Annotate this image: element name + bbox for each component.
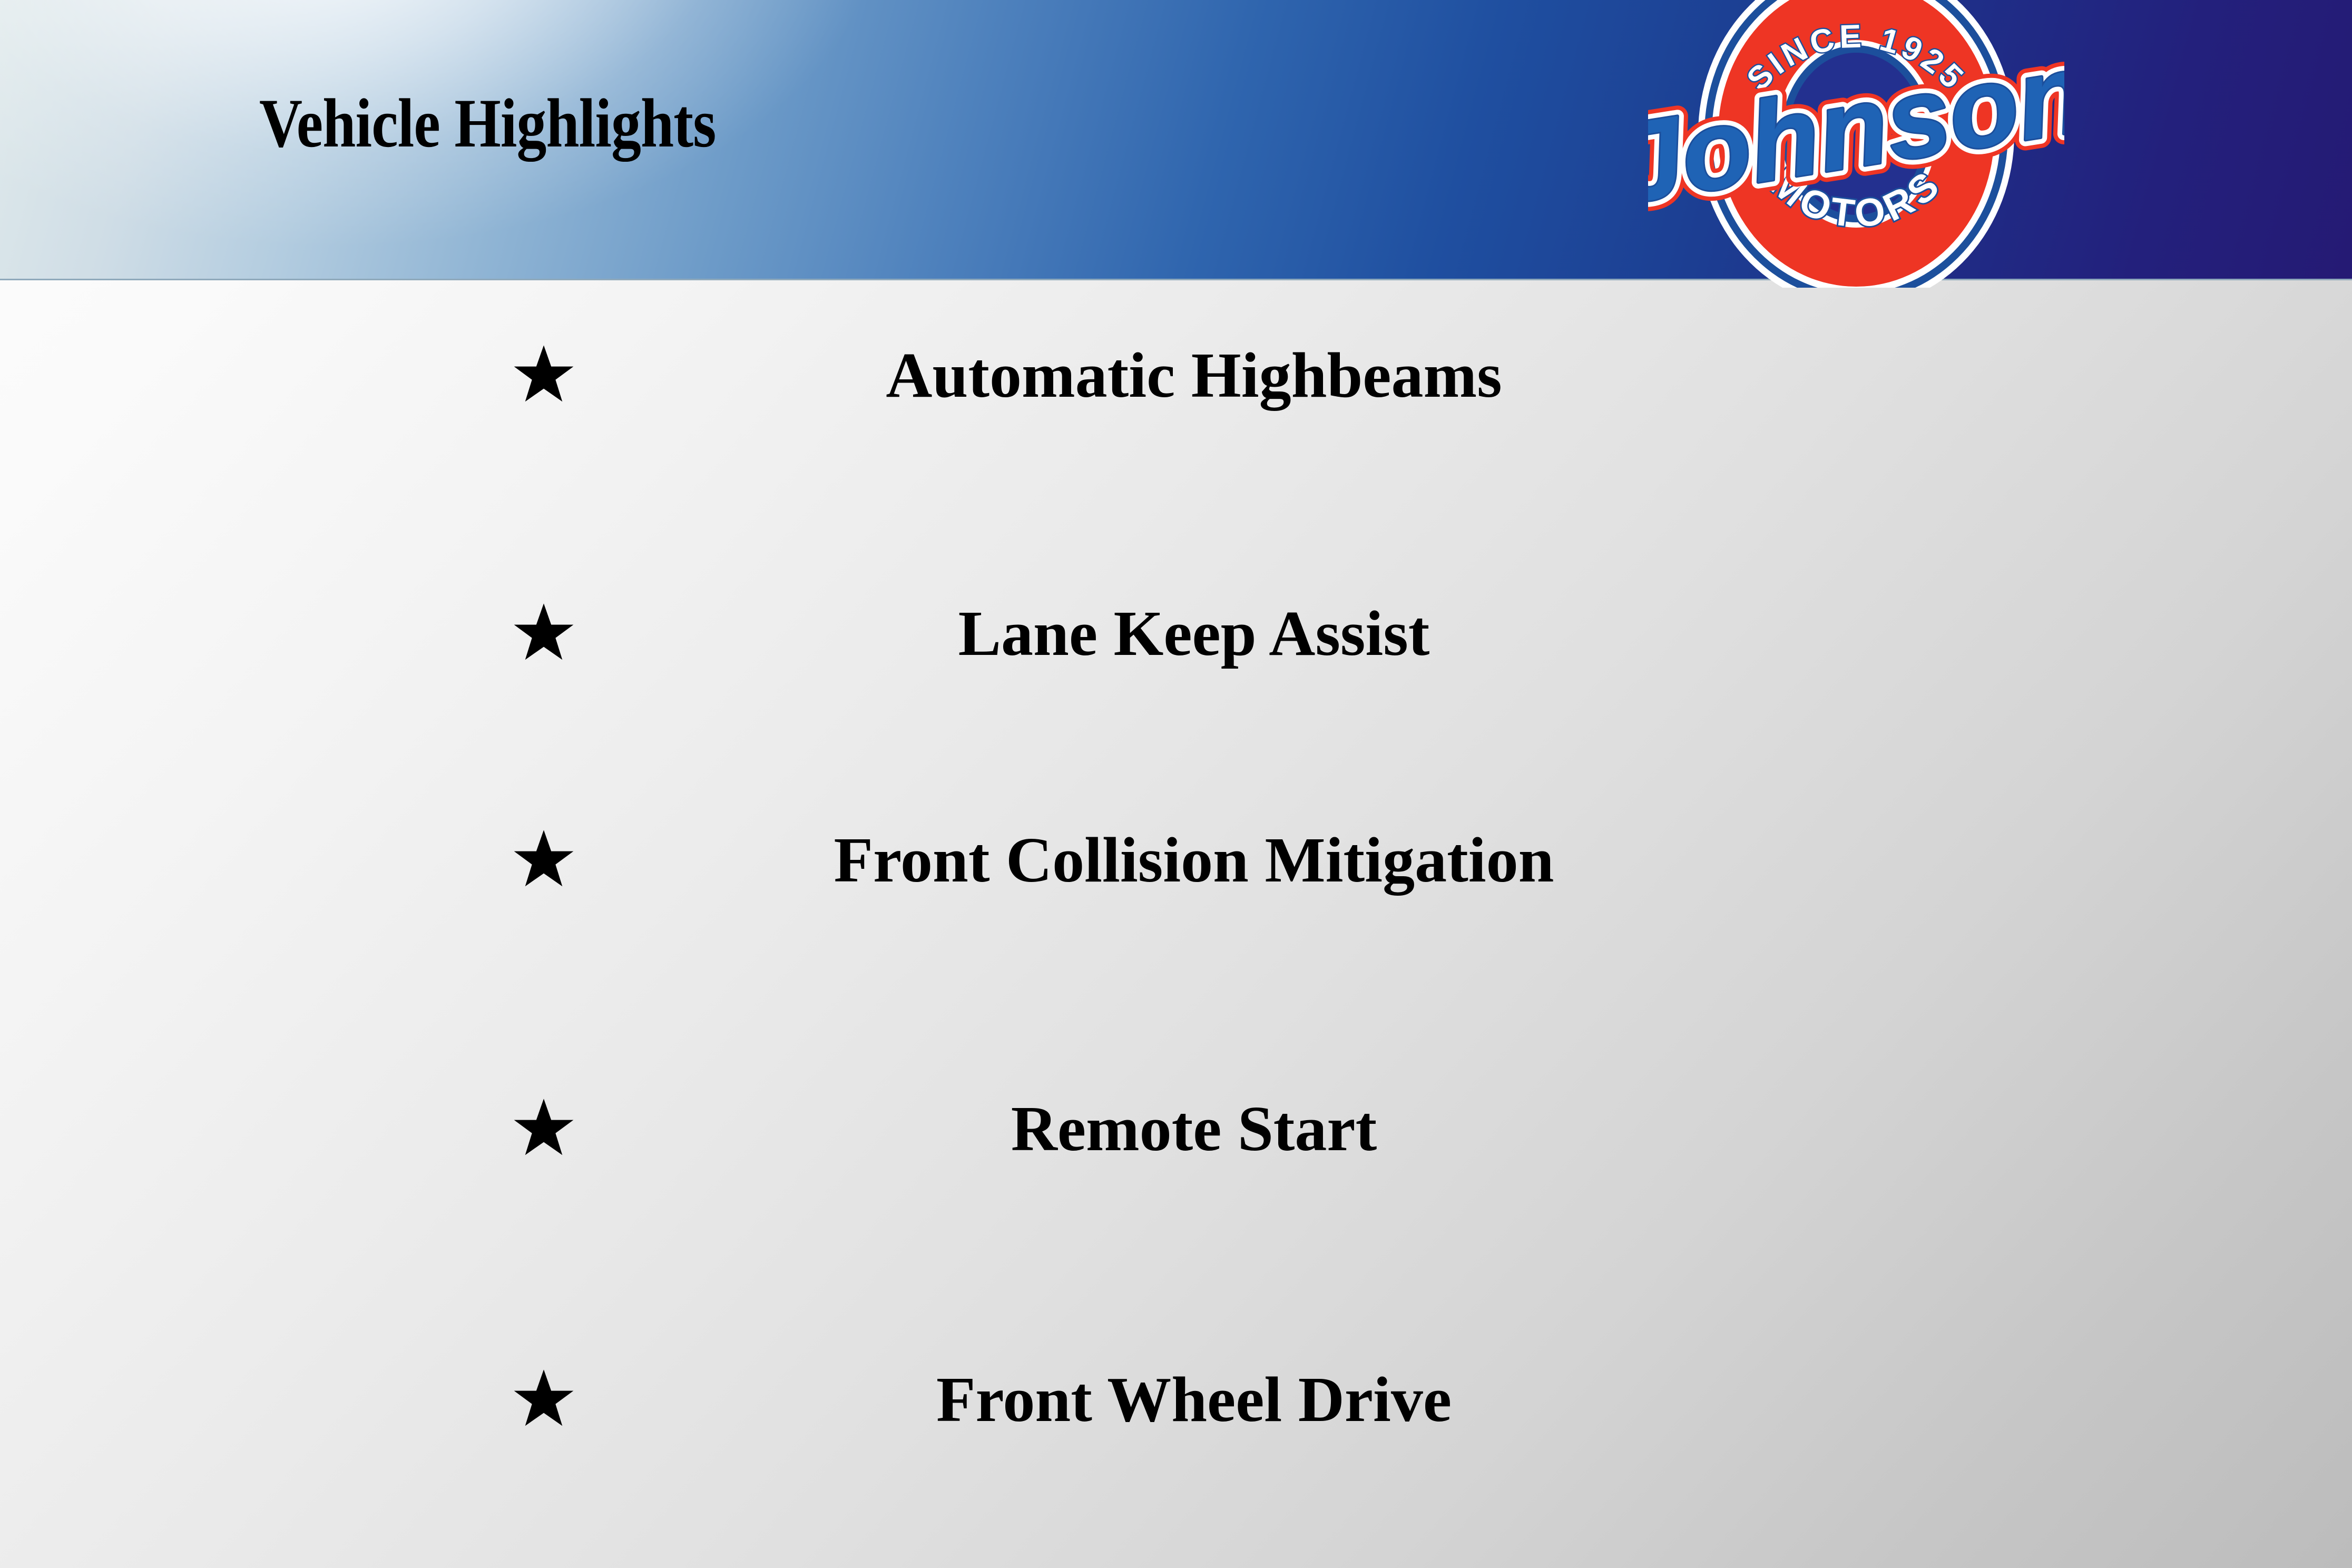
list-item: Front Wheel Drive: [0, 1355, 2352, 1445]
star-icon: [512, 1097, 575, 1161]
list-item-label: Remote Start: [667, 1095, 1721, 1163]
list-item: Remote Start: [0, 1084, 2352, 1174]
list-item-label: Lane Keep Assist: [667, 600, 1721, 668]
star-icon: [512, 829, 575, 892]
vehicle-highlights-list: Automatic Highbeams Lane Keep Assist Fro…: [0, 280, 2352, 1568]
list-item: Front Collision Mitigation: [0, 816, 2352, 905]
list-item: Lane Keep Assist: [0, 589, 2352, 679]
header-bar: Vehicle Highlights: [0, 0, 2352, 280]
list-item-label: Automatic Highbeams: [667, 342, 1721, 409]
list-item-label: Front Collision Mitigation: [667, 827, 1721, 894]
johnson-motors-logo: SINCE 1925 MOTORS Johnson Johnson Johnso…: [1648, 0, 2064, 288]
star-icon: [512, 344, 575, 407]
slide: Vehicle Highlights: [0, 0, 2352, 1568]
list-item: Automatic Highbeams: [0, 331, 2352, 420]
star-icon: [512, 602, 575, 665]
list-item-label: Front Wheel Drive: [667, 1366, 1721, 1434]
star-icon: [512, 1368, 575, 1432]
page-title: Vehicle Highlights: [259, 89, 716, 158]
